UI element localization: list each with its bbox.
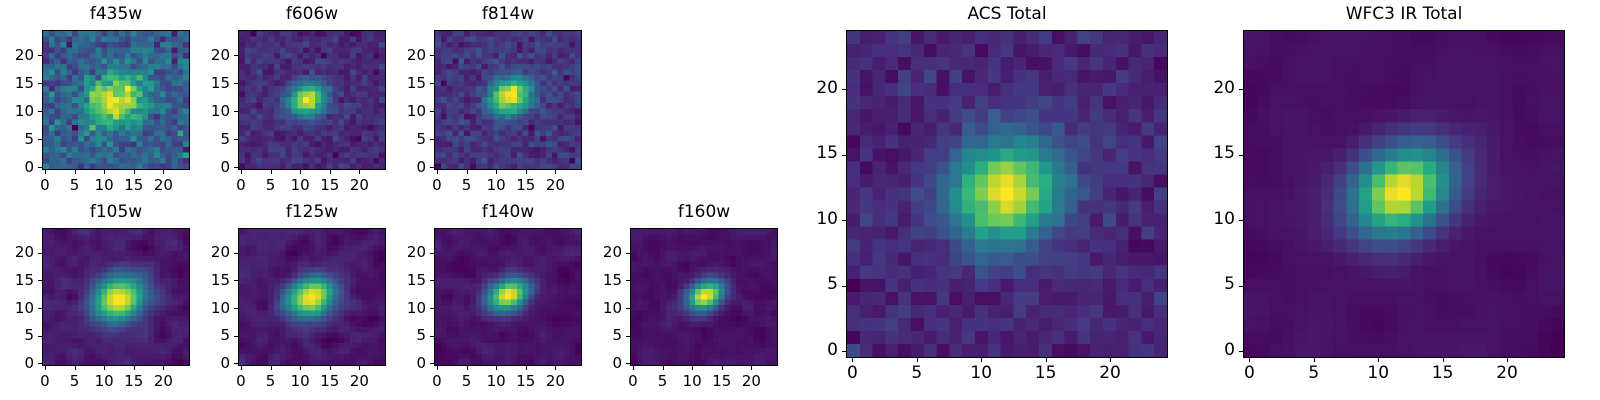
y-tick-label: 15 [0, 273, 34, 288]
x-tick-mark [271, 366, 272, 370]
x-tick-mark [1110, 358, 1111, 362]
y-tick-mark [1239, 351, 1243, 352]
x-tick-mark [330, 170, 331, 174]
x-tick-label: 20 [731, 374, 771, 389]
x-tick-mark [1378, 358, 1379, 362]
y-tick-label: 15 [580, 273, 622, 288]
x-tick-mark [163, 366, 164, 370]
heatmap-f435w [42, 30, 190, 170]
y-tick-mark [626, 336, 630, 337]
y-tick-label: 20 [188, 245, 230, 260]
y-tick-label: 10 [0, 301, 34, 316]
heatmap-f140w [434, 228, 582, 366]
y-tick-label: 5 [1193, 277, 1235, 292]
x-tick-mark [134, 366, 135, 370]
y-tick-label: 10 [188, 301, 230, 316]
panel-title-wfc3-ir-total: WFC3 IR Total [1243, 6, 1565, 23]
x-tick-mark [692, 366, 693, 370]
x-tick-label: 10 [1358, 366, 1398, 381]
x-tick-mark [496, 170, 497, 174]
y-tick-mark [234, 280, 238, 281]
x-tick-label: 20 [535, 178, 575, 193]
y-tick-label: 0 [188, 160, 230, 175]
x-tick-mark [75, 366, 76, 370]
y-tick-label: 5 [188, 328, 230, 343]
y-tick-label: 10 [384, 104, 426, 119]
y-tick-mark [842, 220, 846, 221]
x-tick-mark [241, 366, 242, 370]
y-tick-mark [1239, 89, 1243, 90]
x-tick-label: 15 [1423, 366, 1463, 381]
panel-title-f140w: f140w [434, 204, 582, 221]
y-tick-label: 5 [384, 328, 426, 343]
y-tick-label: 15 [1193, 146, 1235, 161]
x-tick-label: 20 [143, 374, 183, 389]
panel-title-f125w: f125w [238, 204, 386, 221]
y-tick-label: 5 [188, 132, 230, 147]
y-tick-label: 0 [796, 343, 838, 358]
y-tick-mark [430, 363, 434, 364]
y-tick-mark [38, 253, 42, 254]
x-tick-label: 20 [535, 374, 575, 389]
y-tick-label: 15 [796, 146, 838, 161]
y-tick-mark [38, 363, 42, 364]
heatmap-f160w [630, 228, 778, 366]
y-tick-mark [626, 253, 630, 254]
y-tick-label: 10 [188, 104, 230, 119]
y-tick-label: 20 [1193, 81, 1235, 96]
y-tick-mark [430, 139, 434, 140]
y-tick-mark [38, 111, 42, 112]
x-tick-label: 20 [339, 178, 379, 193]
x-tick-mark [75, 170, 76, 174]
x-tick-mark [300, 170, 301, 174]
y-tick-label: 5 [384, 132, 426, 147]
y-tick-mark [842, 351, 846, 352]
x-tick-mark [981, 358, 982, 362]
x-tick-mark [633, 366, 634, 370]
x-tick-mark [663, 366, 664, 370]
y-tick-mark [38, 280, 42, 281]
x-tick-label: 0 [832, 366, 872, 381]
y-tick-label: 15 [384, 273, 426, 288]
y-tick-label: 5 [0, 132, 34, 147]
x-tick-mark [1314, 358, 1315, 362]
y-tick-label: 5 [796, 277, 838, 292]
y-tick-label: 10 [796, 212, 838, 227]
x-tick-mark [437, 366, 438, 370]
y-tick-label: 20 [796, 81, 838, 96]
y-tick-mark [38, 139, 42, 140]
y-tick-label: 15 [0, 76, 34, 91]
x-tick-label: 20 [143, 178, 183, 193]
x-tick-label: 5 [1294, 366, 1334, 381]
x-tick-mark [359, 366, 360, 370]
x-tick-mark [104, 366, 105, 370]
x-tick-label: 20 [339, 374, 379, 389]
x-tick-mark [45, 170, 46, 174]
x-tick-mark [359, 170, 360, 174]
y-tick-label: 20 [0, 48, 34, 63]
heatmap-f814w [434, 30, 582, 170]
y-tick-label: 0 [384, 356, 426, 371]
panel-title-f105w: f105w [42, 204, 190, 221]
x-tick-label: 5 [897, 366, 937, 381]
x-tick-mark [526, 366, 527, 370]
x-tick-label: 10 [961, 366, 1001, 381]
heatmap-wfc3-ir-total [1243, 30, 1565, 358]
y-tick-mark [430, 308, 434, 309]
y-tick-mark [430, 253, 434, 254]
y-tick-mark [430, 167, 434, 168]
y-tick-label: 5 [0, 328, 34, 343]
y-tick-mark [234, 363, 238, 364]
x-tick-mark [555, 366, 556, 370]
x-tick-mark [496, 366, 497, 370]
y-tick-mark [234, 253, 238, 254]
y-tick-mark [626, 308, 630, 309]
y-tick-label: 10 [0, 104, 34, 119]
y-tick-mark [430, 280, 434, 281]
y-tick-mark [234, 55, 238, 56]
x-tick-mark [917, 358, 918, 362]
y-tick-label: 20 [384, 245, 426, 260]
y-tick-label: 0 [384, 160, 426, 175]
y-tick-label: 15 [188, 273, 230, 288]
y-tick-mark [1239, 155, 1243, 156]
x-tick-mark [1443, 358, 1444, 362]
y-tick-label: 10 [1193, 212, 1235, 227]
y-tick-mark [38, 83, 42, 84]
panel-title-f160w: f160w [630, 204, 778, 221]
y-tick-mark [430, 83, 434, 84]
y-tick-mark [38, 308, 42, 309]
y-tick-label: 20 [384, 48, 426, 63]
y-tick-mark [430, 336, 434, 337]
y-tick-mark [1239, 220, 1243, 221]
y-tick-mark [842, 89, 846, 90]
heatmap-acs-total [846, 30, 1168, 358]
y-tick-label: 15 [384, 76, 426, 91]
y-tick-mark [234, 336, 238, 337]
y-tick-mark [430, 111, 434, 112]
x-tick-mark [134, 170, 135, 174]
heatmap-f125w [238, 228, 386, 366]
x-tick-mark [241, 170, 242, 174]
x-tick-mark [1507, 358, 1508, 362]
panel-title-f435w: f435w [42, 6, 190, 23]
x-tick-mark [437, 170, 438, 174]
x-tick-mark [751, 366, 752, 370]
x-tick-mark [467, 366, 468, 370]
y-tick-label: 10 [580, 301, 622, 316]
y-tick-label: 0 [188, 356, 230, 371]
y-tick-label: 15 [188, 76, 230, 91]
x-tick-label: 20 [1487, 366, 1527, 381]
y-tick-mark [430, 55, 434, 56]
y-tick-mark [234, 139, 238, 140]
y-tick-mark [38, 336, 42, 337]
x-tick-mark [722, 366, 723, 370]
x-tick-mark [300, 366, 301, 370]
y-tick-mark [234, 111, 238, 112]
x-tick-mark [467, 170, 468, 174]
x-tick-mark [555, 170, 556, 174]
panel-title-acs-total: ACS Total [846, 6, 1168, 23]
y-tick-mark [234, 83, 238, 84]
y-tick-label: 0 [0, 160, 34, 175]
x-tick-mark [163, 170, 164, 174]
x-tick-mark [104, 170, 105, 174]
x-tick-mark [271, 170, 272, 174]
y-tick-label: 5 [580, 328, 622, 343]
x-tick-mark [852, 358, 853, 362]
y-tick-mark [234, 167, 238, 168]
y-tick-label: 20 [0, 245, 34, 260]
heatmap-f105w [42, 228, 190, 366]
x-tick-label: 20 [1090, 366, 1130, 381]
y-tick-label: 20 [580, 245, 622, 260]
y-tick-mark [38, 55, 42, 56]
x-tick-mark [1046, 358, 1047, 362]
x-tick-label: 0 [1229, 366, 1269, 381]
y-tick-label: 0 [1193, 343, 1235, 358]
x-tick-mark [330, 366, 331, 370]
y-tick-label: 0 [580, 356, 622, 371]
y-tick-mark [626, 363, 630, 364]
x-tick-label: 15 [1026, 366, 1066, 381]
x-tick-mark [526, 170, 527, 174]
y-tick-mark [38, 167, 42, 168]
x-tick-mark [45, 366, 46, 370]
heatmap-f606w [238, 30, 386, 170]
y-tick-mark [234, 308, 238, 309]
y-tick-mark [842, 286, 846, 287]
panel-title-f814w: f814w [434, 6, 582, 23]
y-tick-mark [842, 155, 846, 156]
y-tick-mark [626, 280, 630, 281]
y-tick-mark [1239, 286, 1243, 287]
y-tick-label: 10 [384, 301, 426, 316]
y-tick-label: 0 [0, 356, 34, 371]
panel-title-f606w: f606w [238, 6, 386, 23]
x-tick-mark [1249, 358, 1250, 362]
y-tick-label: 20 [188, 48, 230, 63]
